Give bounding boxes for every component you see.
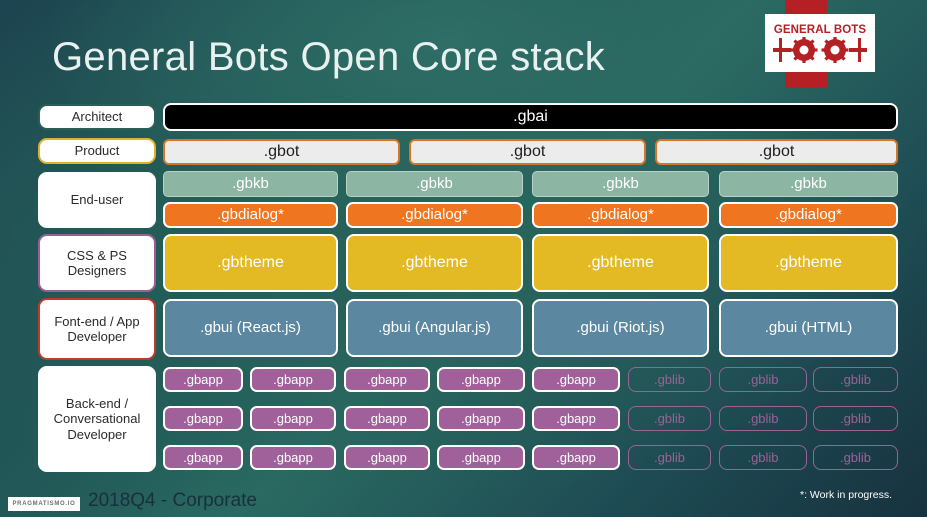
pragmatismo-logo: PRAGMATISMO.IO [8, 497, 80, 511]
general-bots-logo: GENERAL BOTS [765, 14, 875, 72]
stack-box-gblib[interactable]: .gblib [628, 445, 711, 470]
stack-box-gbtheme[interactable]: .gbtheme [346, 234, 523, 292]
box-label: .gblib [840, 450, 871, 465]
role-backend-conversational-developer[interactable]: Back-end / Conversational Developer [38, 366, 156, 472]
stack-box-gbapp[interactable]: .gbapp [437, 406, 525, 431]
box-label: .gbapp [556, 450, 596, 465]
box-label: .gbot [510, 143, 546, 162]
role-label: End-user [71, 192, 124, 207]
stack-box-gbapp[interactable]: .gbapp [532, 367, 620, 392]
stack-box-gbui-angular[interactable]: .gbui (Angular.js) [346, 299, 523, 357]
stack-box-gbdialog[interactable]: .gbdialog* [346, 202, 523, 228]
box-label: .gbapp [183, 372, 223, 387]
footer-caption: 2018Q4 - Corporate [88, 490, 257, 512]
role-end-user[interactable]: End-user [38, 172, 156, 228]
logo-wordmark: GENERAL BOTS [774, 24, 866, 36]
stack-box-gbui-react[interactable]: .gbui (React.js) [163, 299, 338, 357]
gears-logo-icon [773, 37, 867, 63]
stack-box-gbtheme[interactable]: .gbtheme [163, 234, 338, 292]
stack-box-gbapp[interactable]: .gbapp [163, 367, 243, 392]
box-label: .gblib [840, 411, 871, 426]
box-label: .gbui (React.js) [200, 319, 301, 337]
stack-box-gbapp[interactable]: .gbapp [163, 445, 243, 470]
role-label: Product [75, 143, 120, 158]
box-label: .gbapp [461, 372, 501, 387]
stack-box-gbapp[interactable]: .gbapp [532, 406, 620, 431]
box-label: .gblib [654, 372, 685, 387]
stack-box-gbapp[interactable]: .gbapp [437, 445, 525, 470]
page-title: General Bots Open Core stack [52, 35, 605, 80]
box-label: .gbot [264, 143, 300, 162]
stack-box-gbdialog[interactable]: .gbdialog* [532, 202, 709, 228]
stack-box-gbkb[interactable]: .gbkb [346, 171, 523, 197]
box-label: .gblib [654, 411, 685, 426]
footer-note: *: Work in progress. [800, 489, 892, 501]
stack-box-gblib[interactable]: .gblib [813, 367, 898, 392]
role-architect[interactable]: Architect [38, 104, 156, 130]
stack-box-gblib[interactable]: .gblib [628, 367, 711, 392]
role-label: Architect [72, 109, 123, 124]
stack-box-gblib[interactable]: .gblib [719, 367, 807, 392]
box-label: .gbkb [602, 175, 639, 193]
box-label: .gbui (Riot.js) [576, 319, 664, 337]
box-label: .gbapp [183, 411, 223, 426]
stack-box-gbapp[interactable]: .gbapp [250, 367, 336, 392]
pragmatismo-wordmark: PRAGMATISMO.IO [12, 501, 75, 507]
box-label: .gbtheme [217, 254, 284, 273]
stack-box-gbapp[interactable]: .gbapp [344, 445, 430, 470]
stack-box-gbkb[interactable]: .gbkb [163, 171, 338, 197]
box-label: .gbapp [273, 411, 313, 426]
box-label: .gbapp [461, 450, 501, 465]
stack-box-gbapp[interactable]: .gbapp [344, 406, 430, 431]
box-label: .gbdialog* [775, 206, 842, 224]
box-label: .gbkb [232, 175, 269, 193]
box-label: .gbapp [183, 450, 223, 465]
stack-box-gbkb[interactable]: .gbkb [719, 171, 898, 197]
stack-box-gblib[interactable]: .gblib [719, 406, 807, 431]
box-label: .gbapp [367, 372, 407, 387]
box-label: .gbkb [790, 175, 827, 193]
stack-box-gbapp[interactable]: .gbapp [532, 445, 620, 470]
box-label: .gbapp [556, 411, 596, 426]
role-label: CSS & PS Designers [44, 248, 150, 279]
box-label: .gbui (Angular.js) [378, 319, 491, 337]
stack-box-gbapp[interactable]: .gbapp [437, 367, 525, 392]
role-label: Font-end / App Developer [44, 314, 150, 345]
box-label: .gbapp [273, 450, 313, 465]
stack-box-gblib[interactable]: .gblib [719, 445, 807, 470]
stack-box-gbapp[interactable]: .gbapp [163, 406, 243, 431]
stack-box-gbtheme[interactable]: .gbtheme [719, 234, 898, 292]
stack-box-gbui-riot[interactable]: .gbui (Riot.js) [532, 299, 709, 357]
box-label: .gbtheme [587, 254, 654, 273]
role-label: Back-end / Conversational Developer [44, 396, 150, 442]
stack-box-gbui-html[interactable]: .gbui (HTML) [719, 299, 898, 357]
box-label: .gblib [840, 372, 871, 387]
box-label: .gbapp [367, 411, 407, 426]
stack-box-gbot[interactable]: .gbot [655, 139, 898, 165]
box-label: .gblib [654, 450, 685, 465]
box-label: .gbapp [367, 450, 407, 465]
stack-box-gblib[interactable]: .gblib [813, 445, 898, 470]
box-label: .gbai [513, 108, 548, 127]
stack-box-gbai[interactable]: .gbai [163, 103, 898, 131]
stack-box-gblib[interactable]: .gblib [813, 406, 898, 431]
box-label: .gbot [759, 143, 795, 162]
stack-box-gbapp[interactable]: .gbapp [250, 445, 336, 470]
role-frontend-app-developer[interactable]: Font-end / App Developer [38, 298, 156, 360]
stack-box-gbkb[interactable]: .gbkb [532, 171, 709, 197]
box-label: .gbtheme [775, 254, 842, 273]
box-label: .gblib [747, 411, 778, 426]
stack-box-gbot[interactable]: .gbot [163, 139, 400, 165]
box-label: .gbdialog* [217, 206, 284, 224]
box-label: .gbkb [416, 175, 453, 193]
slide-canvas: GENERAL BOTS [0, 0, 927, 517]
box-label: .gbtheme [401, 254, 468, 273]
stack-box-gbapp[interactable]: .gbapp [344, 367, 430, 392]
box-label: .gblib [747, 450, 778, 465]
box-label: .gblib [747, 372, 778, 387]
stack-box-gbdialog[interactable]: .gbdialog* [163, 202, 338, 228]
box-label: .gbdialog* [401, 206, 468, 224]
stack-box-gbdialog[interactable]: .gbdialog* [719, 202, 898, 228]
role-product[interactable]: Product [38, 138, 156, 164]
box-label: .gbapp [273, 372, 313, 387]
stack-box-gblib[interactable]: .gblib [628, 406, 711, 431]
role-css-ps-designers[interactable]: CSS & PS Designers [38, 234, 156, 292]
stack-box-gbot[interactable]: .gbot [409, 139, 646, 165]
box-label: .gbapp [461, 411, 501, 426]
stack-box-gbapp[interactable]: .gbapp [250, 406, 336, 431]
box-label: .gbdialog* [587, 206, 654, 224]
box-label: .gbapp [556, 372, 596, 387]
stack-box-gbtheme[interactable]: .gbtheme [532, 234, 709, 292]
box-label: .gbui (HTML) [765, 319, 853, 337]
